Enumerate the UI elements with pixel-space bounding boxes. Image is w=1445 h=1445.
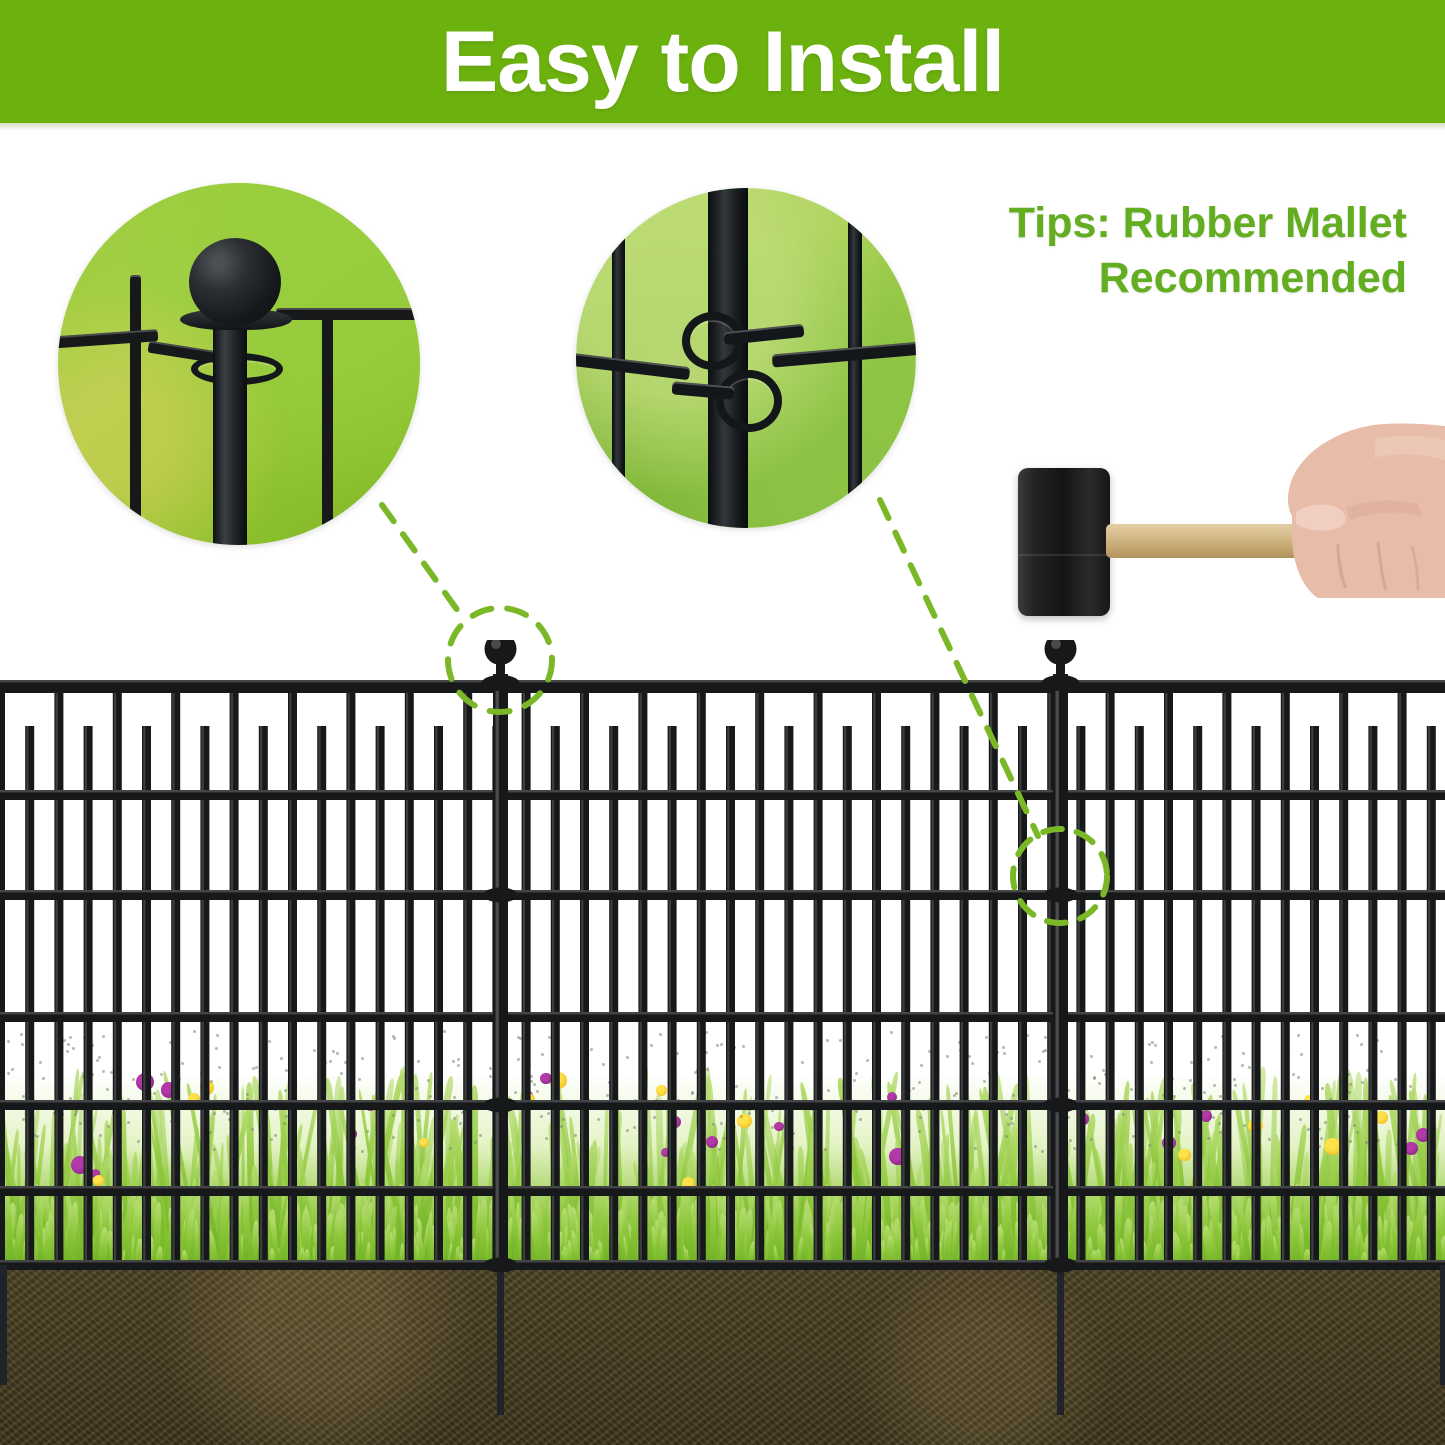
fence-picket-highlight bbox=[1311, 726, 1313, 1265]
panel-connector-knuckle bbox=[1044, 1258, 1078, 1273]
fence-picket-highlight bbox=[727, 726, 729, 1265]
fence-rail-highlight bbox=[0, 680, 1445, 682]
fence-post bbox=[1053, 674, 1068, 1267]
fence-picket-highlight bbox=[406, 680, 408, 1265]
ball-finial-icon bbox=[189, 238, 281, 326]
fence-picket-highlight bbox=[1370, 726, 1372, 1265]
fence-picket-highlight bbox=[464, 680, 466, 1265]
page-title: Easy to Install bbox=[0, 0, 1445, 123]
mallet-head-icon bbox=[1018, 468, 1110, 616]
fence-picket-highlight bbox=[698, 680, 700, 1265]
fence-picket-highlight bbox=[552, 726, 554, 1265]
fence-picket-highlight bbox=[786, 726, 788, 1265]
fence-picket-highlight bbox=[1136, 726, 1138, 1265]
fence-picket-highlight bbox=[1048, 680, 1050, 1265]
fence-picket-highlight bbox=[114, 680, 116, 1265]
fence-rail-highlight bbox=[0, 790, 1445, 792]
fence-picket-highlight bbox=[961, 726, 963, 1265]
fence-picket-highlight bbox=[85, 726, 87, 1265]
fence-bar-left bbox=[130, 275, 141, 545]
fence-rail-highlight bbox=[0, 890, 1445, 892]
fence-rail-highlight bbox=[0, 1100, 1445, 1102]
fence-picket-highlight bbox=[873, 680, 875, 1265]
panel-connector-knuckle bbox=[484, 1258, 518, 1273]
panel-connector-knuckle bbox=[484, 1098, 518, 1113]
fence-picket-highlight bbox=[1019, 726, 1021, 1265]
tips-line-1: Tips: Rubber Mallet bbox=[937, 196, 1407, 251]
fence-picket-highlight bbox=[202, 726, 204, 1265]
fence-picket-highlight bbox=[523, 680, 525, 1265]
panel-connector-knuckle bbox=[484, 888, 518, 903]
rubber-mallet-with-hand bbox=[990, 420, 1445, 650]
fence-ground-stake bbox=[1057, 1265, 1064, 1415]
callout-circle-post-finial bbox=[58, 183, 420, 545]
fence-picket-highlight bbox=[640, 680, 642, 1265]
tips-text: Tips: Rubber Mallet Recommended bbox=[937, 196, 1407, 306]
fence-picket-highlight bbox=[990, 680, 992, 1265]
fence-picket-highlight bbox=[1428, 726, 1430, 1265]
fence-picket-highlight bbox=[581, 680, 583, 1265]
fence-picket-highlight bbox=[815, 680, 817, 1265]
fence-picket-highlight bbox=[231, 680, 233, 1265]
fence-rail-top-right bbox=[276, 308, 420, 320]
header-banner: Easy to Install bbox=[0, 0, 1445, 123]
fence-picket-highlight bbox=[348, 680, 350, 1265]
fence-rail-highlight bbox=[0, 1012, 1445, 1014]
hand-illustration bbox=[1226, 420, 1445, 598]
fence-picket-highlight bbox=[756, 680, 758, 1265]
fence-picket-highlight bbox=[143, 726, 145, 1265]
fence-picket-highlight bbox=[1107, 680, 1109, 1265]
fence-picket-highlight bbox=[1194, 726, 1196, 1265]
fence-picket-highlight bbox=[260, 726, 262, 1265]
callout-circle-panel-connector bbox=[576, 188, 916, 528]
banner-shadow-divider bbox=[0, 123, 1445, 131]
fence-picket bbox=[0, 680, 5, 1265]
s-hook-lower-coil bbox=[716, 370, 782, 432]
fence-ground-stake bbox=[1440, 1265, 1445, 1385]
fence-picket-highlight bbox=[669, 726, 671, 1265]
fence-picket-highlight bbox=[844, 726, 846, 1265]
fence-picket-highlight bbox=[289, 680, 291, 1265]
fence-post bbox=[493, 674, 508, 1267]
fence-picket-highlight bbox=[932, 680, 934, 1265]
fence-ground-stake bbox=[497, 1265, 504, 1415]
fence-rail-highlight bbox=[0, 1260, 1445, 1262]
fence-scene bbox=[0, 640, 1445, 1445]
fence-picket-highlight bbox=[1399, 680, 1401, 1265]
fence-picket-highlight bbox=[377, 726, 379, 1265]
metal-fence-graphic bbox=[0, 640, 1445, 1445]
tips-line-1-rest: Rubber Mallet bbox=[1111, 199, 1407, 247]
fence-picket-highlight bbox=[1078, 726, 1080, 1265]
fence-picket-highlight bbox=[610, 726, 612, 1265]
fence-post-shaft bbox=[213, 321, 247, 545]
fence-picket-highlight bbox=[1282, 680, 1284, 1265]
fence-bar-right bbox=[322, 308, 333, 545]
panel-connector-knuckle bbox=[1044, 1098, 1078, 1113]
fence-picket-highlight bbox=[26, 726, 28, 1265]
fence-picket-highlight bbox=[902, 726, 904, 1265]
fence-post-highlight bbox=[496, 674, 499, 1267]
fence-picket-highlight bbox=[1165, 680, 1167, 1265]
fence-picket-highlight bbox=[1253, 726, 1255, 1265]
fence-picket-highlight bbox=[56, 680, 58, 1265]
fence-picket-highlight bbox=[1340, 680, 1342, 1265]
fence-rail-highlight bbox=[0, 1186, 1445, 1188]
fence-post-highlight bbox=[1056, 674, 1059, 1267]
product-infographic-page: Easy to Install Tips: Rubber Mallet Reco… bbox=[0, 0, 1445, 1445]
fence-ground-stake bbox=[0, 1265, 7, 1385]
fence-picket-highlight bbox=[172, 680, 174, 1265]
fence-picket-highlight bbox=[318, 726, 320, 1265]
tips-label: Tips: bbox=[1009, 199, 1111, 247]
fence-picket-highlight bbox=[1224, 680, 1226, 1265]
fence-picket-highlight bbox=[435, 726, 437, 1265]
tips-line-2: Recommended bbox=[937, 251, 1407, 306]
panel-connector-knuckle bbox=[1044, 888, 1078, 903]
